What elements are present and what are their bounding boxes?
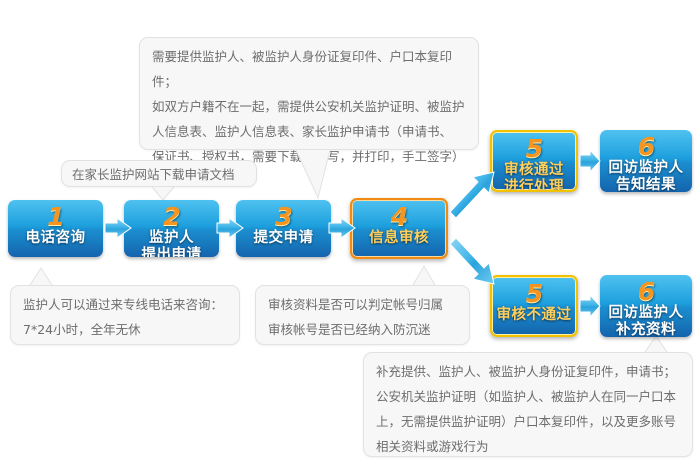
arrow-4-to-rejected — [450, 238, 494, 284]
step-box-1[interactable]: 1 电话咨询 — [8, 200, 103, 257]
note-documents-required: 需要提供监护人、被监护人身份证复印件、户口本复印件； 如双方户籍不在一起，需提供… — [139, 37, 479, 150]
step-number: 5 — [526, 136, 542, 161]
step-number: 6 — [638, 134, 654, 159]
arrow-rejected-to-supplement — [580, 295, 600, 317]
step-box-6-supplement[interactable]: 6 回访监护人 补充资料 — [600, 275, 692, 337]
step-label: 电话咨询 — [26, 230, 86, 247]
step-label: 信息审核 — [369, 230, 429, 247]
flowchart-canvas: 需要提供监护人、被监护人身份证复印件、户口本复印件； 如双方户籍不在一起，需提供… — [0, 0, 700, 470]
note-download-form: 在家长监护网站下载申请文档 — [61, 160, 257, 187]
step-number: 3 — [275, 204, 291, 229]
note-review-criteria: 审核资料是否可以判定帐号归属 审核帐号是否已经纳入防沉迷 — [255, 285, 470, 345]
step-label: 回访监护人 告知结果 — [609, 160, 684, 192]
arrow-approved-to-notify — [580, 150, 600, 172]
step-box-4-information-review[interactable]: 4 信息审核 — [350, 198, 448, 259]
step-label: 审核不通过 — [497, 307, 572, 324]
step-box-5-approved[interactable]: 5 审核通过 进行处理 — [490, 130, 578, 192]
step-number: 1 — [47, 204, 63, 229]
step-label: 提交申请 — [254, 230, 314, 247]
step-box-6-notify-result[interactable]: 6 回访监护人 告知结果 — [600, 130, 692, 192]
step-box-2[interactable]: 2 监护人 提出申请 — [124, 200, 219, 257]
note-supplement-materials: 补充提供、监护人、被监护人身份证复印件，申请书； 公安机关监护证明（如监护人、被… — [363, 352, 693, 457]
step-label: 监护人 提出申请 — [142, 230, 202, 257]
note-hotline: 监护人可以通过来专线电话来咨询： 7*24小时，全年无休 — [10, 285, 240, 345]
step-box-3[interactable]: 3 提交申请 — [236, 200, 331, 257]
arrow-4-to-approved — [450, 172, 494, 218]
step-number: 6 — [638, 279, 654, 304]
step-label: 回访监护人 补充资料 — [609, 305, 684, 337]
step-box-5-rejected[interactable]: 5 审核不通过 — [490, 275, 578, 337]
step-label: 审核通过 进行处理 — [504, 162, 564, 192]
step-number: 4 — [391, 204, 407, 229]
step-number: 5 — [526, 281, 542, 306]
step-number: 2 — [163, 204, 179, 229]
